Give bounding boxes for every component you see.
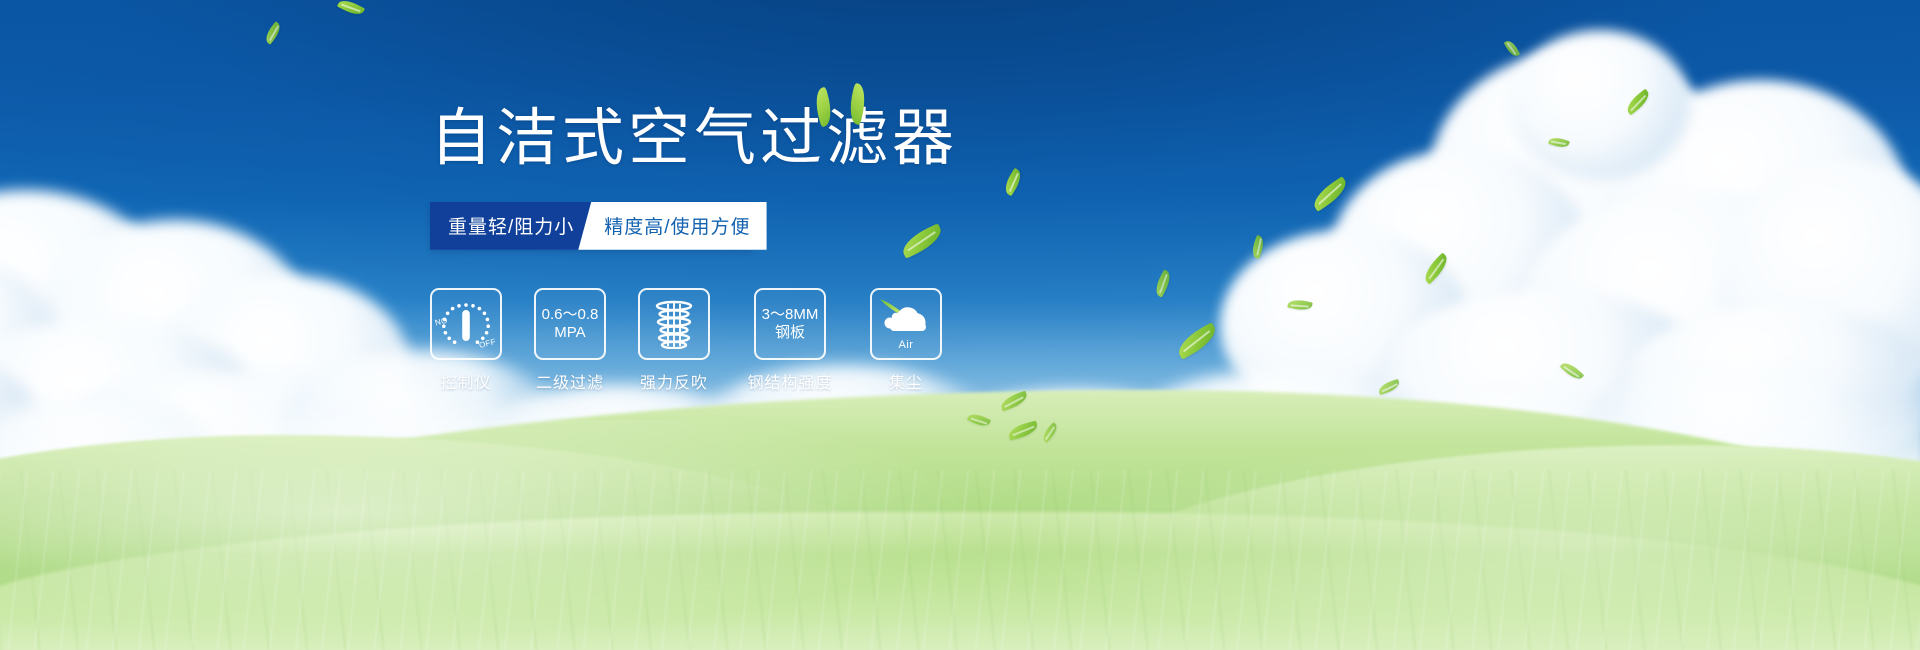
floating-leaf: [262, 21, 283, 44]
floating-leaf: [337, 0, 365, 18]
feature-icon-row: NO OFF 控制仪 0.6〜0.8 MPA 二级过滤: [430, 288, 1130, 393]
feature-two-stage-filtration[interactable]: 0.6〜0.8 MPA 二级过滤: [534, 288, 606, 393]
page-title: 自洁式空气过滤器: [430, 106, 1130, 172]
feature-controller[interactable]: NO OFF 控制仪: [430, 288, 502, 393]
floating-leaf: [1173, 322, 1220, 360]
feature-label: 强力反吹: [640, 369, 708, 393]
feature-label: 二级过滤: [536, 369, 604, 393]
feature-steel-strength[interactable]: 3〜8MM 钢板 钢结构强度: [742, 288, 838, 393]
banner-content: 自洁式空气过滤器 重量轻/阻力小 精度高/使用方便: [430, 106, 1130, 393]
floating-leaf: [1152, 269, 1174, 297]
feature-tag-bar: 重量轻/阻力小 精度高/使用方便: [430, 202, 752, 250]
floating-leaf: [1548, 135, 1570, 150]
floating-leaf: [1309, 176, 1351, 212]
filter-coil-icon: [651, 299, 697, 349]
floating-leaf: [1287, 298, 1313, 313]
feature-dust-collection[interactable]: Air 集尘: [870, 288, 942, 393]
floating-leaf: [1560, 359, 1585, 382]
air-label: Air: [872, 339, 940, 351]
feature-label: 集尘: [889, 369, 923, 393]
feature-icon-box: NO OFF: [430, 288, 502, 360]
tag-precision-convenience[interactable]: 精度高/使用方便: [578, 202, 766, 250]
floating-leaf: [1250, 235, 1267, 259]
title-wrap: 自洁式空气过滤器: [430, 106, 1130, 172]
feature-label: 钢结构强度: [747, 369, 832, 393]
hero-banner: 自洁式空气过滤器 重量轻/阻力小 精度高/使用方便: [0, 0, 1920, 650]
tag-weight-resistance[interactable]: 重量轻/阻力小: [430, 202, 591, 250]
feature-icon-box: Air: [870, 288, 942, 360]
feature-label: 控制仪: [440, 369, 491, 393]
pressure-text-icon: 0.6〜0.8 MPA: [542, 306, 599, 341]
feature-icon-box: 3〜8MM 钢板: [754, 288, 826, 360]
steel-plate-text-icon: 3〜8MM 钢板: [762, 306, 819, 341]
feature-icon-box: 0.6〜0.8 MPA: [534, 288, 606, 360]
feature-strong-backblow[interactable]: 强力反吹: [638, 288, 710, 393]
leaf-sprout-pair-icon: [814, 80, 884, 126]
floating-leaf: [1420, 252, 1452, 284]
feature-icon-box: [638, 288, 710, 360]
cloud-air-icon: [878, 298, 934, 342]
floating-leaf: [1623, 89, 1652, 116]
floating-leaf: [1504, 38, 1520, 58]
floating-leaf: [1377, 379, 1401, 395]
